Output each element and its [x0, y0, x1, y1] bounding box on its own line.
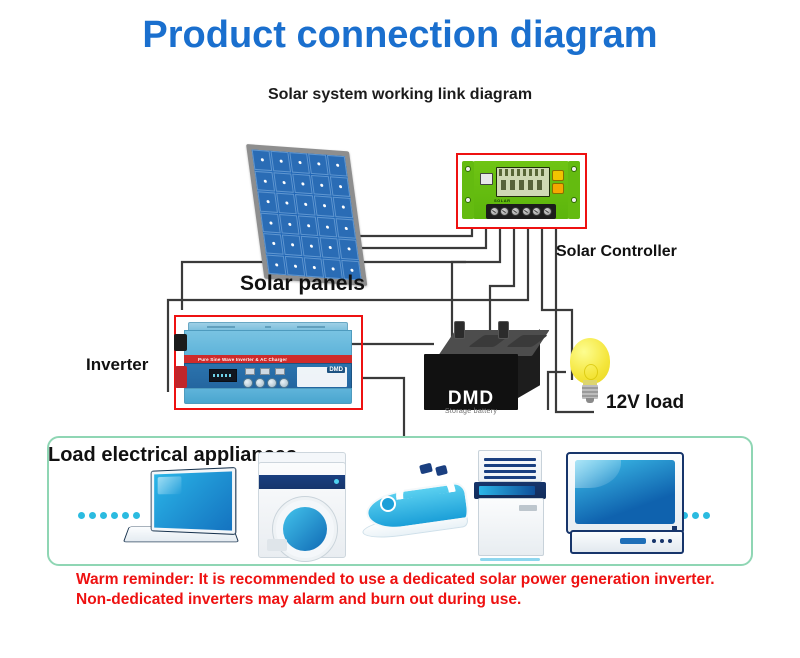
flow-dot	[100, 512, 107, 519]
flow-dot	[703, 512, 710, 519]
label-12v-load: 12V load	[606, 392, 684, 414]
solar-cell	[255, 170, 276, 191]
ac-body	[478, 498, 544, 556]
controller-mount-left	[462, 161, 474, 219]
appliance-air-conditioner	[474, 450, 546, 558]
battery-terminal-negative[interactable]	[498, 321, 509, 339]
solar-cell	[327, 155, 348, 176]
washer-door	[273, 497, 337, 561]
washer-body	[258, 462, 346, 558]
bulb-glass	[570, 338, 610, 384]
solar-cell	[330, 176, 351, 197]
inverter-upper-shell	[184, 330, 352, 356]
solar-cell	[270, 151, 291, 172]
solar-cell	[282, 234, 303, 255]
washer-detergent-drawer	[267, 539, 287, 551]
solar-cell	[289, 152, 310, 173]
battery-front-face: DMD Storage battery	[424, 354, 518, 410]
inverter-button-row[interactable]	[243, 378, 289, 386]
solar-cell	[279, 214, 300, 235]
controller-terminal-screw[interactable]	[532, 207, 541, 216]
inverter-lower-shell	[184, 388, 352, 404]
solar-cell	[295, 194, 316, 215]
laptop-screen	[152, 468, 236, 534]
inverter[interactable]: Pure Sine Wave Inverter & AC Charger DMD	[180, 322, 356, 404]
tv-base	[570, 530, 684, 554]
flow-dot	[692, 512, 699, 519]
controller-terminal-screw[interactable]	[500, 207, 509, 216]
flow-dot	[78, 512, 85, 519]
diagram-canvas: Product connection diagram Solar system …	[0, 0, 800, 658]
controller-usb-port[interactable]	[480, 173, 493, 185]
controller-button-down[interactable]	[552, 183, 564, 194]
warning-text: Warm reminder: It is recommended to use …	[76, 570, 736, 610]
appliance-washing-machine	[258, 452, 344, 556]
label-solar-controller: Solar Controller	[556, 243, 677, 261]
battery-subtitle: Storage battery	[424, 408, 518, 415]
solar-cell	[292, 173, 313, 194]
solar-controller[interactable]: SOLAR Charge Controller	[472, 161, 570, 219]
label-solar-panels: Solar panels	[240, 272, 365, 296]
wire-inverter-to-appliances	[363, 378, 404, 436]
flow-dot	[111, 512, 118, 519]
iron-temperature-dial	[380, 496, 396, 512]
solar-cell	[314, 195, 335, 216]
storage-battery: DMD Storage battery	[424, 330, 540, 412]
flow-dot	[89, 512, 96, 519]
controller-lcd-display	[496, 167, 550, 197]
appliance-iron	[360, 462, 470, 552]
inverter-lcd-display	[209, 369, 237, 382]
solar-cell	[276, 193, 297, 214]
ac-display	[474, 482, 546, 499]
controller-terminal-screw[interactable]	[490, 207, 499, 216]
controller-button-up[interactable]	[552, 170, 564, 181]
tv-frame	[566, 452, 684, 534]
washer-control-panel	[259, 475, 345, 489]
solar-cell	[263, 233, 284, 254]
controller-terminal-screw[interactable]	[511, 207, 520, 216]
solar-cell	[335, 218, 356, 239]
solar-cell	[252, 149, 273, 170]
bulb-tip	[586, 398, 594, 403]
battery-brand: DMD	[424, 388, 518, 410]
controller-mount-right	[568, 161, 580, 219]
solar-cell	[320, 237, 341, 258]
solar-cell	[317, 216, 338, 237]
inverter-brand: DMD	[327, 367, 345, 373]
solar-panel-frame	[246, 144, 367, 286]
inverter-positive-terminal[interactable]	[175, 366, 187, 388]
tv-screen	[575, 460, 675, 524]
inverter-negative-terminal[interactable]	[174, 334, 187, 351]
solar-cell	[311, 174, 332, 195]
inverter-switch-row[interactable]	[245, 368, 285, 376]
appliance-television	[566, 452, 686, 556]
solar-cell	[257, 191, 278, 212]
controller-terminal-screw[interactable]	[522, 207, 531, 216]
solar-cell	[260, 212, 281, 233]
solar-cell	[301, 236, 322, 257]
ac-base	[480, 558, 540, 561]
controller-terminal-screw[interactable]	[543, 207, 552, 216]
label-inverter: Inverter	[86, 355, 148, 375]
solar-panel-cells	[252, 149, 362, 280]
solar-cell	[308, 154, 329, 175]
solar-cell	[273, 172, 294, 193]
battery-terminal-positive[interactable]	[454, 321, 465, 339]
appliance-laptop	[126, 470, 236, 554]
tv-control-knobs	[652, 539, 672, 543]
inverter-front-panel: DMD	[184, 363, 352, 389]
solar-cell	[338, 239, 359, 260]
wire-controller-to-battery-neg	[490, 229, 514, 336]
controller-terminal-block[interactable]	[486, 204, 556, 219]
ac-louvers	[478, 450, 542, 482]
solar-cell	[333, 197, 354, 218]
bulb-screw-base	[582, 385, 598, 399]
solar-cell	[298, 215, 319, 236]
solar-panel	[246, 144, 396, 284]
